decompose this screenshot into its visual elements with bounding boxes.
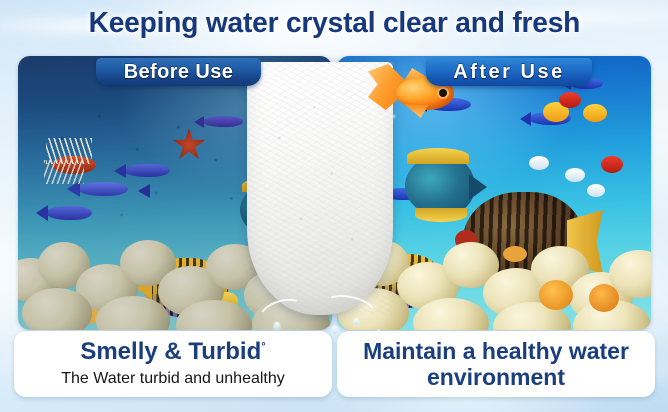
promotional-banner: Keeping water crystal clear and fresh bbox=[0, 0, 668, 412]
white-fish bbox=[565, 168, 585, 182]
orange-coral bbox=[589, 284, 619, 312]
before-use-caption-card: Smelly & Turbid° The Water turbid and un… bbox=[14, 331, 332, 397]
degree-mark: ° bbox=[261, 341, 265, 353]
water-droplet bbox=[332, 326, 338, 334]
yellow-fish bbox=[583, 104, 607, 122]
goldfish-pelvic-fin bbox=[404, 104, 428, 118]
page-title: Keeping water crystal clear and fresh bbox=[0, 7, 668, 41]
white-fish bbox=[529, 156, 549, 170]
page-title-text: Keeping water crystal clear and fresh bbox=[88, 7, 580, 40]
water-droplet bbox=[354, 318, 359, 325]
after-use-caption-title: Maintain a healthy water environment bbox=[337, 338, 655, 390]
lionfish bbox=[40, 134, 100, 186]
orange-coral bbox=[539, 280, 573, 310]
before-use-caption-title: Smelly & Turbid° bbox=[80, 340, 265, 364]
water-droplet bbox=[274, 322, 280, 330]
before-use-badge: Before Use bbox=[96, 58, 261, 86]
after-use-caption-card: Maintain a healthy water environment bbox=[337, 331, 655, 397]
after-use-badge: After Use bbox=[426, 58, 592, 86]
goldfish-eye bbox=[439, 89, 447, 97]
before-use-label: Before Use bbox=[124, 61, 234, 84]
red-fish bbox=[559, 92, 581, 108]
red-fish bbox=[601, 156, 623, 173]
before-use-caption-title-text: Smelly & Turbid bbox=[80, 338, 261, 365]
blue-fish bbox=[124, 164, 170, 177]
after-use-label: After Use bbox=[453, 61, 564, 84]
blue-fish bbox=[203, 116, 243, 127]
before-use-caption-subtitle: The Water turbid and unhealthy bbox=[61, 370, 285, 388]
blue-fish bbox=[148, 184, 192, 197]
